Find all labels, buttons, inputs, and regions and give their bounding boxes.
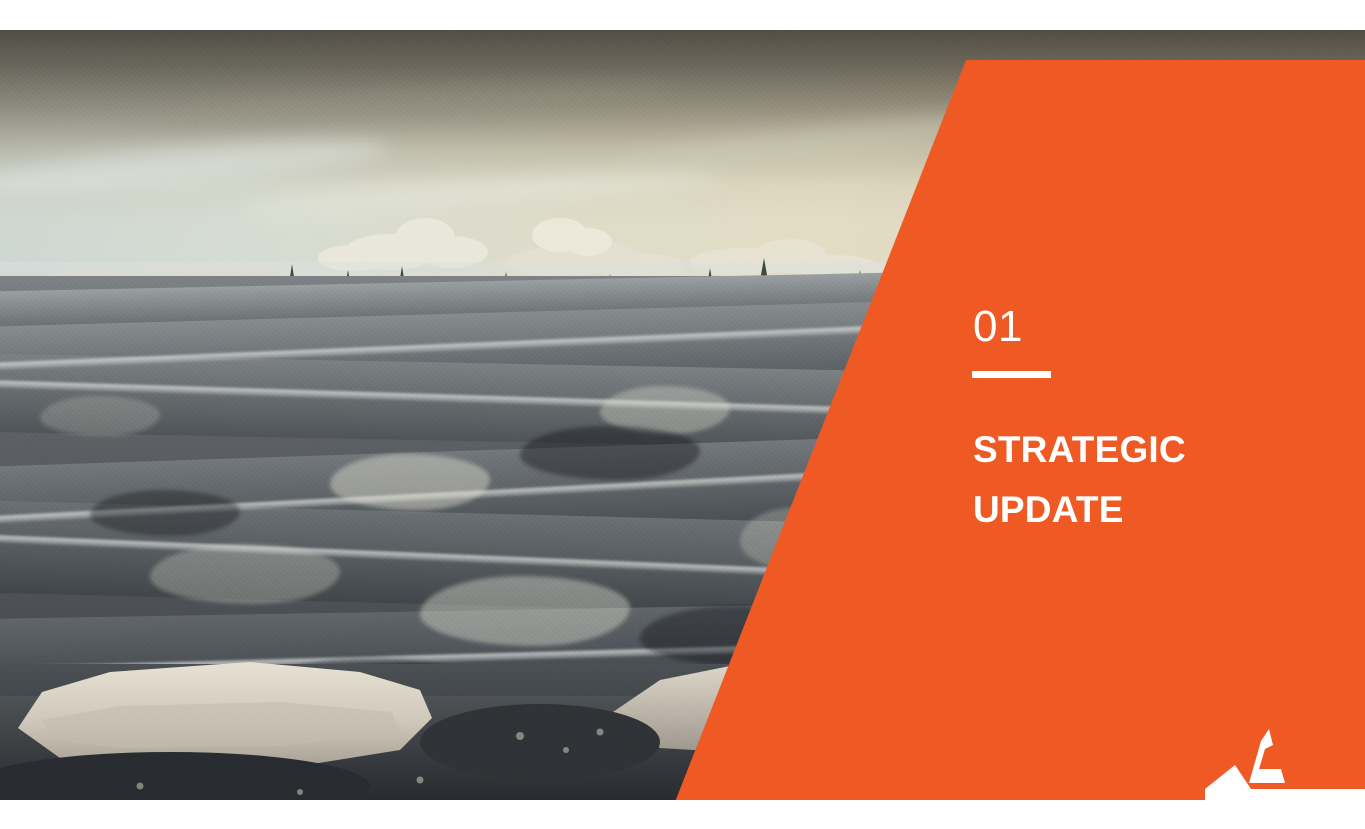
page-title: STRATEGIC UPDATE [973, 420, 1186, 540]
title-divider-rule [972, 371, 1051, 378]
a-monogram-logo [1249, 729, 1285, 783]
section-number: 01 [973, 305, 1023, 349]
brand-mark-svg [1205, 719, 1365, 829]
title-slide: 01 STRATEGIC UPDATE [0, 0, 1365, 829]
brand-mark [1205, 719, 1365, 829]
quarry-photo [0, 30, 1365, 800]
